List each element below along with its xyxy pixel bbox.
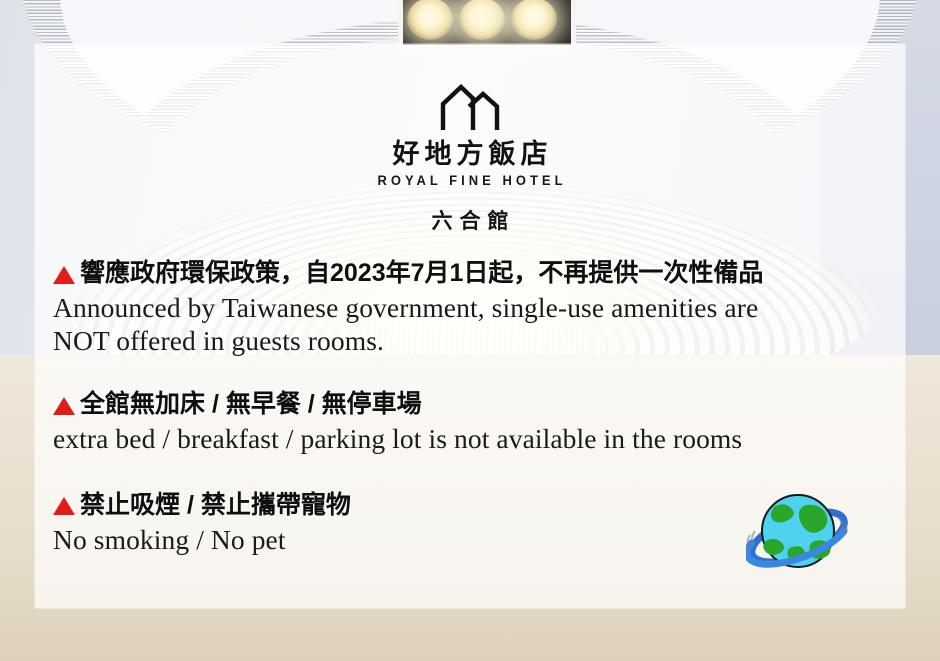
notice-english-line: extra bed / breakfast / parking lot is n… bbox=[53, 423, 900, 455]
hotel-notice-image: 好地方飯店 ROYAL FINE HOTEL 六合館 響應政府環保政策，自202… bbox=[0, 0, 940, 661]
red-triangle-icon bbox=[53, 497, 75, 515]
notice-english-line: NOT offered in guests rooms. bbox=[53, 325, 900, 357]
notice-chinese-text: 全館無加床 / 無早餐 / 無停車場 bbox=[80, 389, 422, 420]
notice-chinese-text: 禁止吸煙 / 禁止攜帶寵物 bbox=[80, 490, 351, 521]
notice-chinese-text: 響應政府環保政策，自2023年7月1日起，不再提供一次性備品 bbox=[80, 258, 763, 289]
notice-item: 全館無加床 / 無早餐 / 無停車場 extra bed / breakfast… bbox=[53, 389, 900, 456]
hotel-name-english: ROYAL FINE HOTEL bbox=[23, 173, 922, 188]
notice-item: 響應政府環保政策，自2023年7月1日起，不再提供一次性備品 Announced… bbox=[53, 258, 900, 357]
notice-english-line: Announced by Taiwanese government, singl… bbox=[53, 292, 900, 324]
notice-chinese-line: 響應政府環保政策，自2023年7月1日起，不再提供一次性備品 bbox=[53, 258, 900, 289]
ceiling-spotlight-fixture bbox=[398, 0, 576, 50]
red-triangle-icon bbox=[53, 397, 75, 415]
hotel-logo-block: 好地方飯店 ROYAL FINE HOTEL 六合館 bbox=[0, 84, 940, 235]
house-roof-logo-icon bbox=[439, 84, 501, 132]
spotlight-lamp bbox=[407, 0, 453, 40]
hotel-name-chinese: 好地方飯店 bbox=[5, 140, 940, 170]
notice-english-lines: extra bed / breakfast / parking lot is n… bbox=[53, 423, 900, 455]
notice-chinese-line: 全館無加床 / 無早餐 / 無停車場 bbox=[53, 389, 900, 420]
globe-earth-icon bbox=[746, 481, 850, 585]
hotel-branch-name: 六合館 bbox=[7, 205, 940, 235]
spotlight-lamp bbox=[511, 0, 557, 40]
red-triangle-icon bbox=[53, 266, 75, 284]
notice-english-lines: Announced by Taiwanese government, singl… bbox=[53, 292, 900, 357]
spotlight-lamp bbox=[459, 0, 505, 40]
